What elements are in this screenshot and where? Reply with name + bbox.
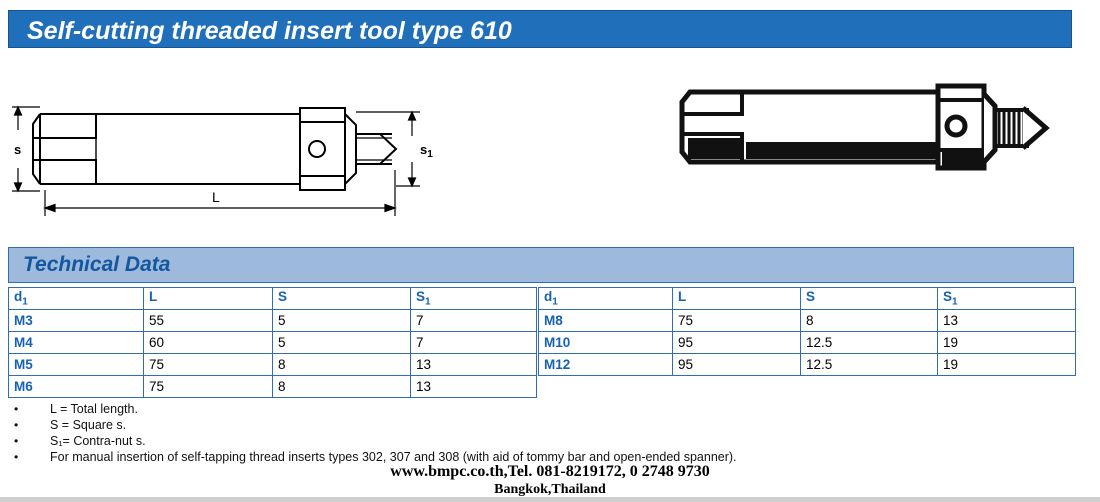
cell-d1: M3 xyxy=(9,310,144,332)
cell-d1: M4 xyxy=(9,332,144,354)
cell-d1: M12 xyxy=(539,354,673,376)
dimension-label-s: s xyxy=(14,142,21,157)
cell-L: 55 xyxy=(144,310,273,332)
technical-data-header: Technical Data xyxy=(8,247,1074,283)
technical-data-table-left: d1 L S S1 M3 55 5 7 M4 60 5 7 M5 75 xyxy=(8,287,537,398)
column-header-S1: S1 xyxy=(938,288,1076,310)
cell-S1: 19 xyxy=(938,354,1076,376)
cell-S: 8 xyxy=(273,376,411,398)
note-item: • S = Square s. xyxy=(8,418,1068,434)
note-item: • S₁= Contra-nut s. xyxy=(8,434,1068,450)
cell-d1: M6 xyxy=(9,376,144,398)
dimension-label-s1: s1 xyxy=(420,142,433,160)
cell-S1: 13 xyxy=(411,354,537,376)
footer-location-line: Bangkok,Thailand xyxy=(0,481,1100,498)
tommy-bar-hole-icon xyxy=(947,117,965,135)
cell-d1: M8 xyxy=(539,310,673,332)
column-header-S: S xyxy=(273,288,411,310)
page-title-bar: Self-cutting threaded insert tool type 6… xyxy=(8,10,1072,48)
footer: www.bmpc.co.th,Tel. 081-8219172, 0 2748 … xyxy=(0,462,1100,498)
column-header-d1: d1 xyxy=(9,288,144,310)
table-row: M6 75 8 13 xyxy=(9,376,537,398)
technical-data-table-right: d1 L S S1 M8 75 8 13 M10 95 12.5 19 M12 … xyxy=(538,287,1076,376)
cell-S1: 19 xyxy=(938,332,1076,354)
footer-contact-line: www.bmpc.co.th,Tel. 081-8219172, 0 2748 … xyxy=(0,462,1100,481)
table-row: M10 95 12.5 19 xyxy=(539,332,1076,354)
table-row: M8 75 8 13 xyxy=(539,310,1076,332)
bottom-divider xyxy=(0,497,1100,502)
cell-L: 95 xyxy=(673,332,801,354)
cell-L: 60 xyxy=(144,332,273,354)
technical-data-title: Technical Data xyxy=(23,253,170,277)
cell-L: 95 xyxy=(673,354,801,376)
table-header-row: d1 L S S1 xyxy=(539,288,1076,310)
column-header-S: S xyxy=(801,288,938,310)
cell-S: 12.5 xyxy=(801,354,938,376)
column-header-d1: d1 xyxy=(539,288,673,310)
table-row: M12 95 12.5 19 xyxy=(539,354,1076,376)
cell-S1: 7 xyxy=(411,332,537,354)
note-text: L = Total length. xyxy=(50,402,138,416)
table-row: M5 75 8 13 xyxy=(9,354,537,376)
cell-S: 5 xyxy=(273,332,411,354)
cell-d1: M5 xyxy=(9,354,144,376)
drawings-area: s L s1 xyxy=(0,50,1100,235)
note-item: • L = Total length. xyxy=(8,402,1068,418)
column-header-L: L xyxy=(673,288,801,310)
cell-S: 8 xyxy=(273,354,411,376)
tommy-bar-hole-icon xyxy=(309,141,325,157)
cell-L: 75 xyxy=(144,376,273,398)
table-row: M4 60 5 7 xyxy=(9,332,537,354)
table-row: M3 55 5 7 xyxy=(9,310,537,332)
note-text: S = Square s. xyxy=(50,418,126,432)
cell-S1: 7 xyxy=(411,310,537,332)
cell-S: 12.5 xyxy=(801,332,938,354)
bullet-icon: • xyxy=(14,434,18,448)
datasheet-page: Self-cutting threaded insert tool type 6… xyxy=(0,0,1100,502)
cell-L: 75 xyxy=(673,310,801,332)
table-header-row: d1 L S S1 xyxy=(9,288,537,310)
note-text: S₁= Contra-nut s. xyxy=(50,434,146,448)
cell-S: 5 xyxy=(273,310,411,332)
cell-S1: 13 xyxy=(938,310,1076,332)
cell-d1: M10 xyxy=(539,332,673,354)
column-header-L: L xyxy=(144,288,273,310)
page-title: Self-cutting threaded insert tool type 6… xyxy=(27,17,512,46)
cell-S1: 13 xyxy=(411,376,537,398)
column-header-S1: S1 xyxy=(411,288,537,310)
notes-list: • L = Total length. • S = Square s. • S₁… xyxy=(8,402,1068,466)
cell-L: 75 xyxy=(144,354,273,376)
bullet-icon: • xyxy=(14,418,18,432)
cell-S: 8 xyxy=(801,310,938,332)
technical-line-drawing: s L s1 xyxy=(0,50,450,235)
bullet-icon: • xyxy=(14,402,18,416)
tool-pictorial-illustration xyxy=(650,80,1050,210)
dimension-label-length: L xyxy=(212,189,220,205)
